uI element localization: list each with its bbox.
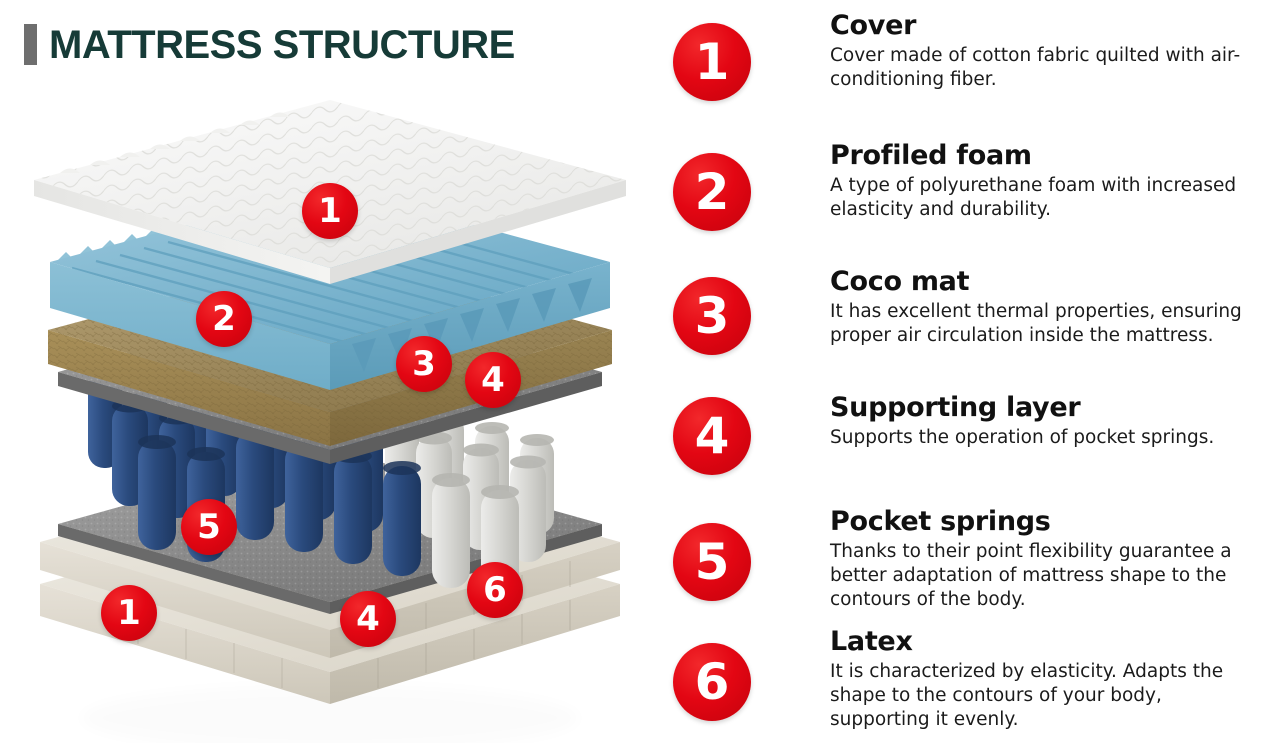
marker-number: 5 [695, 537, 730, 587]
legend-title-6: Latex [830, 628, 1260, 657]
illustration-marker-6[interactable]: 6 [467, 562, 523, 618]
illustration-marker-1b[interactable]: 1 [101, 585, 157, 641]
illustration-marker-4a[interactable]: 4 [465, 352, 521, 408]
legend-desc-3: It has excellent thermal properties, ens… [830, 300, 1260, 348]
legend-marker-5[interactable]: 5 [673, 523, 751, 601]
marker-number: 3 [412, 347, 436, 381]
legend-marker-3[interactable]: 3 [673, 277, 751, 355]
marker-number: 2 [212, 302, 236, 336]
legend-marker-2[interactable]: 2 [673, 153, 751, 231]
illustration-marker-1a[interactable]: 1 [302, 183, 358, 239]
legend-list: 1 Cover Cover made of cotton fabric quil… [660, 0, 1280, 743]
legend-title-1: Cover [830, 12, 1260, 41]
marker-number: 6 [483, 573, 507, 607]
marker-number: 6 [695, 657, 730, 707]
legend-title-5: Pocket springs [830, 508, 1260, 537]
legend-marker-6[interactable]: 6 [673, 643, 751, 721]
legend-marker-4[interactable]: 4 [673, 397, 751, 475]
mattress-illustration: 1 2 3 4 5 1 4 6 [0, 72, 660, 743]
marker-number: 1 [117, 596, 141, 630]
title-accent-bar [24, 24, 37, 65]
legend-desc-6: It is characterized by elasticity. Adapt… [830, 660, 1260, 732]
illustration-marker-5[interactable]: 5 [181, 499, 237, 555]
illustration-marker-3[interactable]: 3 [396, 336, 452, 392]
legend-marker-1[interactable]: 1 [673, 23, 751, 101]
legend-desc-1: Cover made of cotton fabric quilted with… [830, 44, 1260, 92]
legend-title-3: Coco mat [830, 268, 1260, 297]
legend-desc-2: A type of polyurethane foam with increas… [830, 174, 1260, 222]
legend-desc-4: Supports the operation of pocket springs… [830, 426, 1260, 450]
marker-number: 2 [695, 167, 730, 217]
page-title: MATTRESS STRUCTURE [24, 24, 515, 65]
marker-number: 5 [197, 510, 221, 544]
mattress-layers-svg [0, 72, 660, 743]
marker-number: 4 [481, 363, 505, 397]
legend-title-2: Profiled foam [830, 142, 1260, 171]
marker-number: 1 [318, 194, 342, 228]
legend-title-4: Supporting layer [830, 394, 1260, 423]
illustration-marker-4b[interactable]: 4 [340, 591, 396, 647]
marker-number: 3 [695, 291, 730, 341]
marker-number: 4 [695, 411, 730, 461]
title-label: MATTRESS STRUCTURE [49, 25, 515, 65]
illustration-marker-2[interactable]: 2 [196, 291, 252, 347]
marker-number: 1 [695, 37, 730, 87]
marker-number: 4 [356, 602, 380, 636]
legend-desc-5: Thanks to their point flexibility guaran… [830, 540, 1260, 612]
